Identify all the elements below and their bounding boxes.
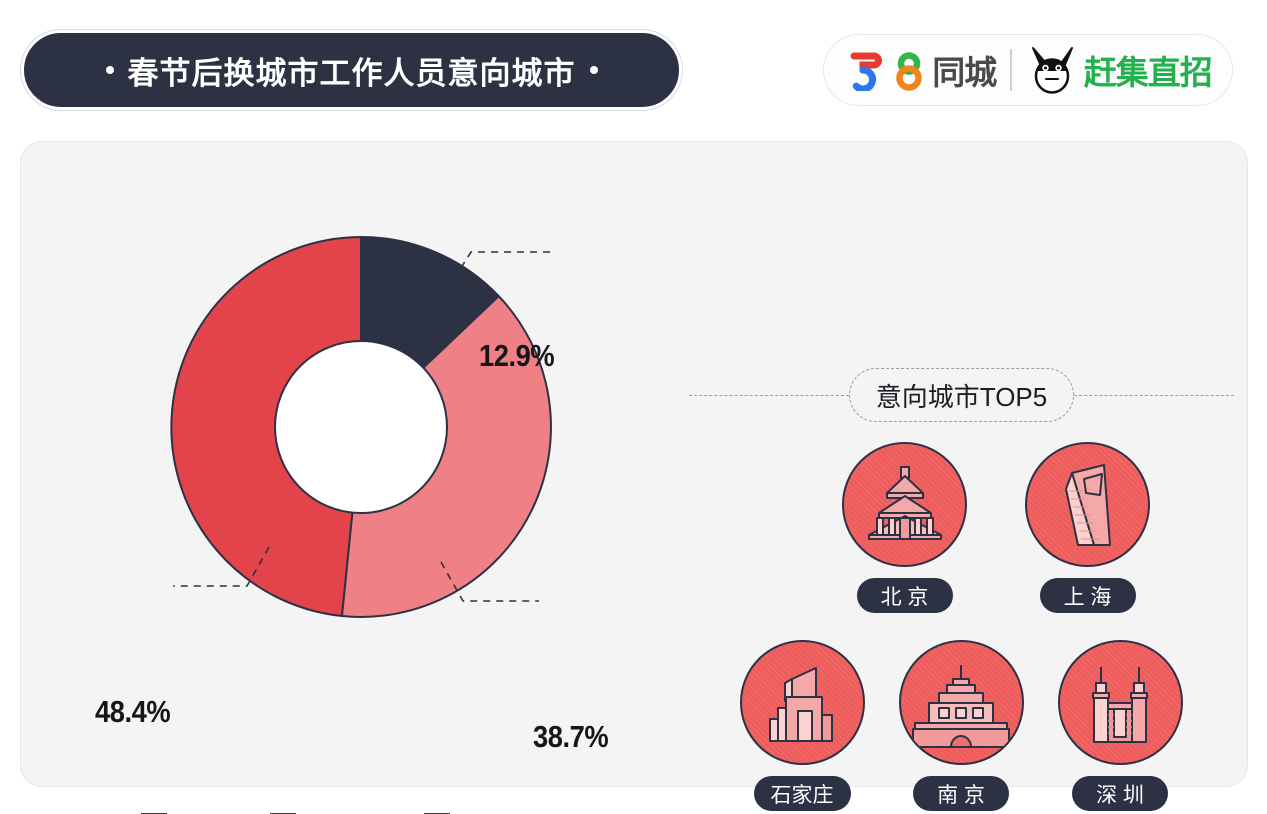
city-item-nanjing[interactable]: 南 京 [899,640,1024,811]
top5-city-grid: 北 京 [681,442,1241,811]
shanghai-swfc-tower-icon [1038,455,1138,555]
rabbit-mascot-icon [1026,46,1078,94]
bullet-dot-left [106,66,114,74]
brand-logo: 同城 赶集直招 [823,34,1233,106]
donut-value-other: 48.4% [95,694,170,730]
page-title: 春节后换城市工作人员意向城市 [128,48,576,93]
logo-divider [1010,49,1012,91]
page-title-pill: 春节后换城市工作人员意向城市 [24,33,679,107]
bullet-dot-right [590,66,598,74]
city-item-shijiazhuang[interactable]: 石家庄 [740,640,865,811]
donut-value-tier1: 38.7% [533,719,608,755]
shenzhen-twin-towers-icon [1070,653,1170,753]
legend-item-tier1: 一线 [141,808,228,814]
city-circle-nanjing [899,640,1024,765]
content-card: 12.9% 38.7% 48.4% 一线 新一线 其他城市占比 意向城市TOP5 [20,141,1248,787]
shijiazhuang-skyscrapers-icon [752,653,852,753]
top5-heading-pill: 意向城市TOP5 [849,368,1074,422]
city-label-shenzhen: 深 圳 [1072,776,1168,811]
city-label-nanjing: 南 京 [913,776,1009,811]
legend-label-tier1: 一线 [178,808,228,814]
logo-tongcheng-text: 同城 [932,46,996,94]
city-circle-shenzhen [1058,640,1183,765]
city-label-beijing: 北 京 [857,578,953,613]
city-circle-shijiazhuang [740,640,865,765]
dashed-line-right [1074,395,1234,396]
digit-5-icon [844,49,886,91]
city-circle-shanghai [1025,442,1150,567]
logo-ganji-text: 赶集直招 [1084,46,1212,94]
donut-chart-svg [151,217,571,637]
legend-item-other: 其他城市占比 [424,808,611,814]
dashed-line-left [689,395,849,396]
temple-of-heaven-icon [855,455,955,555]
city-label-shanghai: 上 海 [1040,578,1136,613]
city-circle-beijing [842,442,967,567]
infographic-root: 春节后换城市工作人员意向城市 同城 [0,0,1267,814]
top5-heading-text: 意向城市TOP5 [876,377,1047,414]
logo-58-mark: 同城 [844,46,996,94]
legend-label-new-tier1: 新一线 [307,808,382,814]
legend-item-new-tier1: 新一线 [270,808,382,814]
legend-label-other: 其他城市占比 [461,808,611,814]
top5-heading-row: 意向城市TOP5 [689,367,1234,423]
chart-legend: 一线 新一线 其他城市占比 [141,808,611,814]
nanjing-city-gate-icon [909,651,1013,755]
donut-chart [151,217,571,637]
city-label-shijiazhuang: 石家庄 [754,776,851,811]
city-item-beijing[interactable]: 北 京 [842,442,967,613]
digit-8-icon [889,49,929,91]
donut-hole [275,341,447,513]
donut-value-new-tier1: 12.9% [479,338,554,374]
city-item-shanghai[interactable]: 上 海 [1025,442,1150,613]
city-item-shenzhen[interactable]: 深 圳 [1058,640,1183,811]
